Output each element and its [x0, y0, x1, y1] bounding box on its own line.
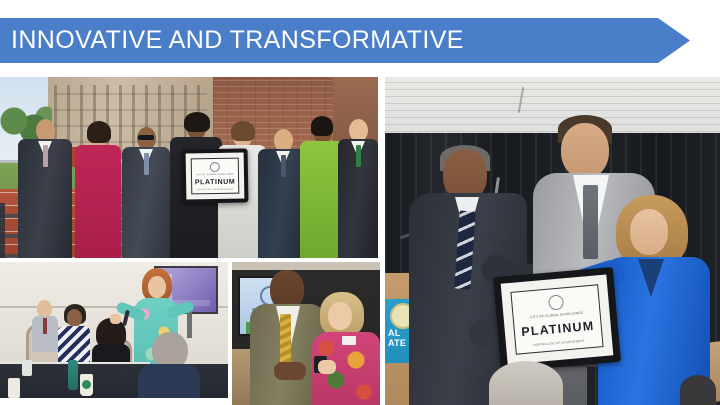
certificate-seal-icon [210, 161, 220, 171]
water-bottle [68, 360, 78, 390]
certificate-level: PLATINUM [521, 318, 595, 338]
award-certificate-presentation: CITY OF GLOBAL EXCELLENCE PLATINUM CERTI… [510, 284, 603, 354]
award-frame-group: CITY OF GLOBAL EXCELLENCE PLATINUM CERTI… [182, 148, 249, 203]
person-2-hair [87, 121, 111, 143]
podium-sign-line-2: ATE [388, 338, 406, 348]
audience-head-right [680, 375, 716, 405]
audience-member-4 [138, 332, 200, 398]
audience-head-front [489, 361, 563, 405]
award-mat-presentation: CITY OF GLOBAL EXCELLENCE PLATINUM CERTI… [501, 275, 614, 365]
recipient-right-head [630, 209, 668, 255]
person-8-tie [356, 145, 361, 167]
person-4-hair [184, 112, 210, 132]
audience-member-1-tie [43, 318, 47, 334]
certificate-footer: CERTIFICATE OF ACHIEVEMENT [197, 188, 233, 191]
coffee-cup-3 [22, 360, 32, 376]
speaker-woman-hand [318, 360, 336, 374]
person-3-sunglasses [138, 135, 154, 140]
audience-member-2-head [67, 309, 82, 327]
speaker-woman-head [328, 302, 352, 330]
podium-sign-text: AL ATE [388, 328, 406, 348]
coffee-cup-1 [80, 374, 93, 396]
presenter-woman-hand-left [110, 314, 121, 324]
page-title: INNOVATIVE AND TRANSFORMATIVE [0, 28, 464, 53]
speaker-woman-name-badge [342, 336, 356, 345]
award-frame-presentation: CITY OF GLOBAL EXCELLENCE PLATINUM CERTI… [493, 267, 621, 372]
audience-member-4-jacket [138, 364, 200, 398]
photo-group-outdoor-scene: CITY OF GLOBAL EXCELLENCE PLATINUM CERTI… [0, 77, 378, 258]
certificate-heading: CITY OF GLOBAL EXCELLENCE [196, 173, 234, 177]
photo-award-presentation: AL ATE [385, 77, 720, 405]
recipient-center-tie [583, 185, 598, 259]
speaker-woman [312, 292, 380, 405]
photo-award-presentation-scene: AL ATE [385, 77, 720, 405]
photo-presenter-audience [0, 262, 228, 398]
slide-canvas: INNOVATIVE AND TRANSFORMATIVE [0, 0, 720, 405]
award-certificate: CITY OF GLOBAL EXCELLENCE PLATINUM CERTI… [191, 158, 240, 195]
photo-presenter-audience-scene [0, 262, 228, 398]
certificate-level: PLATINUM [195, 178, 236, 186]
person-1 [18, 119, 72, 258]
audience-member-2 [58, 304, 90, 364]
coffee-cup-2 [8, 378, 20, 398]
certificate-seal-icon [547, 294, 563, 310]
award-mat: CITY OF GLOBAL EXCELLENCE PLATINUM CERTI… [186, 152, 245, 199]
photo-speakers-scene [232, 262, 380, 405]
person-3 [122, 127, 170, 258]
certificate-footer: CERTIFICATE OF ACHIEVEMENT [533, 338, 585, 347]
photo-group-outdoor: CITY OF GLOBAL EXCELLENCE PLATINUM CERTI… [0, 77, 378, 258]
person-2-dress [75, 145, 121, 258]
photo-speakers [232, 262, 380, 405]
person-8 [338, 119, 378, 258]
certificate-heading: CITY OF GLOBAL EXCELLENCE [530, 310, 583, 320]
podium-sign-line-1: AL [388, 328, 406, 338]
person-3-tie [144, 153, 149, 175]
person-5-hair [231, 121, 255, 141]
person-6-tie [281, 155, 286, 177]
audience-member-1 [32, 300, 58, 350]
person-7-hair [311, 116, 333, 136]
speaker-man-hands [274, 362, 306, 380]
presenter-woman-head [148, 276, 166, 298]
person-1-tie [43, 145, 48, 167]
recipient-center-head [561, 123, 609, 179]
speaker-man-tie [280, 314, 291, 366]
person-2 [75, 125, 121, 258]
title-banner: INNOVATIVE AND TRANSFORMATIVE [0, 18, 690, 63]
